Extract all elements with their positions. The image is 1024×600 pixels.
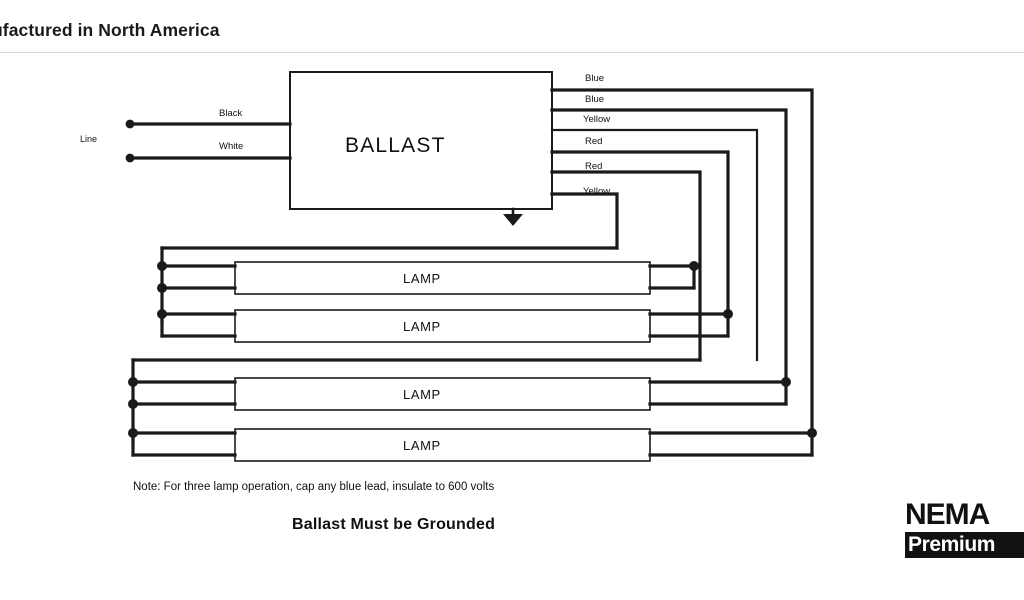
- junction-dot-lamp3-left-top: [128, 377, 138, 387]
- label-output-red-2: Red: [585, 161, 602, 172]
- terminal-dot-white: [126, 154, 135, 163]
- wiring-schematic: [0, 0, 1024, 600]
- lamp-label-2: LAMP: [403, 319, 441, 334]
- nema-logo-top: NEMA: [905, 500, 1024, 530]
- lamp-label-4: LAMP: [403, 438, 441, 453]
- lamp-label-3: LAMP: [403, 387, 441, 402]
- label-lead-white: White: [219, 141, 243, 152]
- lamp-box-4: [235, 429, 650, 461]
- nema-logo-bottom: Premium: [905, 532, 1024, 558]
- label-lead-black: Black: [219, 108, 242, 119]
- junction-dot-lamp3-left-bottom: [128, 399, 138, 409]
- lamp-box-3: [235, 378, 650, 410]
- note-text: Note: For three lamp operation, cap any …: [133, 481, 494, 493]
- junction-dot-lamp2-left: [157, 309, 167, 319]
- lamp-box-2: [235, 310, 650, 342]
- lamp-box-1: [235, 262, 650, 294]
- label-output-blue-1: Blue: [585, 73, 604, 84]
- junction-dot-lamp1-right: [689, 261, 699, 271]
- wire-yellow-2: [552, 194, 617, 248]
- grounded-text: Ballast Must be Grounded: [292, 516, 495, 534]
- label-output-yellow-2: Yellow: [583, 186, 610, 197]
- label-output-yellow-1: Yellow: [583, 114, 610, 125]
- junction-dot-lamp3-right: [781, 377, 791, 387]
- nema-premium-logo: NEMA Premium: [905, 500, 1024, 558]
- label-output-blue-2: Blue: [585, 94, 604, 105]
- junction-dot-lamp4-right: [807, 428, 817, 438]
- label-output-red-1: Red: [585, 136, 602, 147]
- label-line: Line: [80, 134, 97, 144]
- junction-dot-lamp4-left: [128, 428, 138, 438]
- junction-dot-lamp1-left-top: [157, 261, 167, 271]
- junction-dot-lamp1-left-bottom: [157, 283, 167, 293]
- ballast-label: BALLAST: [345, 134, 446, 158]
- diagram-canvas: ufactured in North America: [0, 0, 1024, 600]
- lamp-label-1: LAMP: [403, 271, 441, 286]
- junction-dot-lamp2-right: [723, 309, 733, 319]
- ground-arrow-icon: [503, 214, 523, 226]
- terminal-dot-black: [126, 120, 135, 129]
